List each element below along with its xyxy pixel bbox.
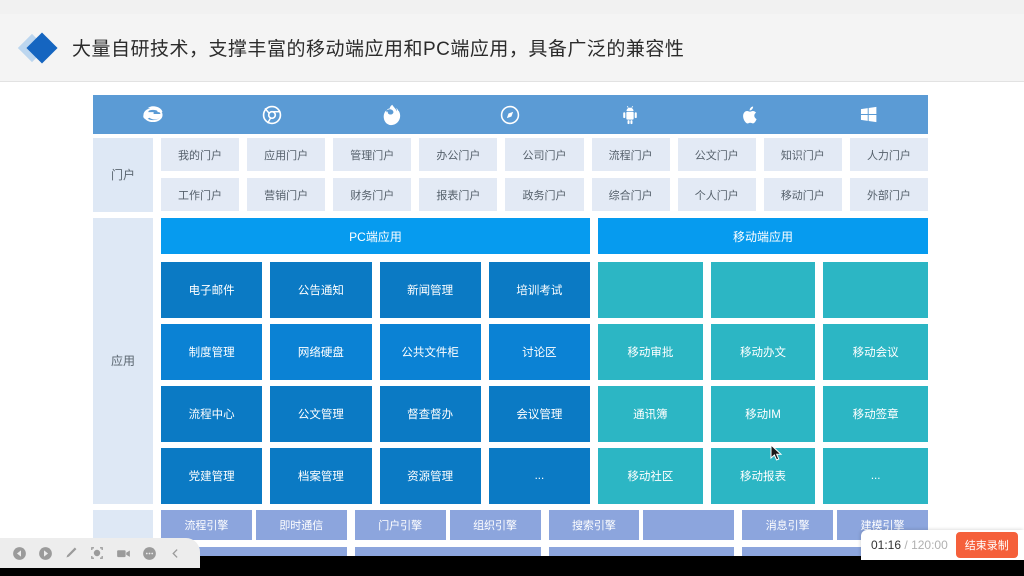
focus-icon[interactable] (84, 540, 110, 566)
mobile-app-item[interactable] (823, 262, 928, 318)
diamond-icon (22, 31, 64, 65)
portal-item[interactable]: 工作门户 (161, 178, 239, 211)
chevron-left-icon[interactable] (162, 540, 188, 566)
core-tech-group: 搜索引擎 (549, 510, 735, 540)
ellipsis-icon[interactable] (136, 540, 162, 566)
portal-band-body: 我的门户 应用门户 管理门户 办公门户 公司门户 流程门户 公文门户 知识门户 … (161, 138, 928, 212)
portal-grid: 我的门户 应用门户 管理门户 办公门户 公司门户 流程门户 公文门户 知识门户 … (161, 138, 928, 212)
pc-app-item[interactable]: 督查督办 (380, 386, 481, 442)
pc-app-item[interactable]: 公共文件柜 (380, 324, 481, 380)
core-tech-item[interactable]: 搜索引擎 (549, 510, 640, 540)
pc-app-item[interactable]: 公告通知 (270, 262, 371, 318)
screen-root: 大量自研技术，支撑丰富的移动端应用和PC端应用，具备广泛的兼容性 (0, 0, 1024, 576)
mobile-application-grid: 移动审批 移动办文 移动会议 通讯簿 移动IM 移动签章 移动社区 移动报表 .… (598, 262, 928, 504)
platform-compatibility-bar (93, 95, 928, 134)
pc-app-item-more[interactable]: ... (489, 448, 590, 504)
portal-item[interactable]: 流程门户 (592, 138, 670, 171)
portal-item[interactable]: 公司门户 (505, 138, 583, 171)
pc-applications-header: PC端应用 (161, 218, 590, 254)
mobile-app-item[interactable]: 移动审批 (598, 324, 703, 380)
pc-app-item[interactable]: 资源管理 (380, 448, 481, 504)
mobile-app-item[interactable]: 移动报表 (711, 448, 816, 504)
pc-app-item[interactable]: 新闻管理 (380, 262, 481, 318)
mobile-app-item[interactable]: 移动会议 (823, 324, 928, 380)
portal-item[interactable]: 管理门户 (333, 138, 411, 171)
window-top-strip (0, 0, 1024, 14)
pc-app-item[interactable]: 制度管理 (161, 324, 262, 380)
pc-app-item[interactable]: 讨论区 (489, 324, 590, 380)
recording-separator: / (904, 538, 907, 552)
presentation-toolbar (0, 538, 200, 568)
mobile-app-item-more[interactable]: ... (823, 448, 928, 504)
chrome-icon (212, 95, 331, 134)
arrow-left-circle-icon[interactable] (6, 540, 32, 566)
mouse-cursor (770, 444, 783, 467)
portal-band-label: 门户 (93, 138, 153, 212)
core-tech-row-top: 流程引擎 即时通信 门户引擎 组织引擎 搜索引擎 消息引擎 (161, 510, 928, 540)
mobile-applications-header: 移动端应用 (598, 218, 928, 254)
portal-item[interactable]: 综合门户 (592, 178, 670, 211)
pc-app-item[interactable]: 公文管理 (270, 386, 371, 442)
pc-app-item[interactable]: 电子邮件 (161, 262, 262, 318)
portal-item[interactable]: 外部门户 (850, 178, 928, 211)
portal-item[interactable]: 政务门户 (505, 178, 583, 211)
application-band-label: 应用 (93, 218, 153, 504)
page-title: 大量自研技术，支撑丰富的移动端应用和PC端应用，具备广泛的兼容性 (72, 34, 684, 61)
mobile-app-item[interactable]: 移动社区 (598, 448, 703, 504)
core-tech-group: 门户引擎 组织引擎 (355, 510, 541, 540)
application-band-body: PC端应用 移动端应用 电子邮件 公告通知 新闻管理 培训考试 制度管理 网络硬… (161, 218, 928, 504)
architecture-diagram: 门户 我的门户 应用门户 管理门户 办公门户 公司门户 流程门户 公文门户 知识… (93, 95, 928, 545)
application-band: 应用 PC端应用 移动端应用 电子邮件 公告通知 新闻管理 培训考试 制度管理 (93, 218, 928, 504)
pc-app-item[interactable]: 会议管理 (489, 386, 590, 442)
recording-widget: 01:16 / 120:00 结束录制 (861, 530, 1024, 560)
arrow-right-circle-icon[interactable] (32, 540, 58, 566)
recording-elapsed: 01:16 (871, 538, 901, 552)
portal-item[interactable]: 公文门户 (678, 138, 756, 171)
recording-timer: 01:16 / 120:00 (871, 538, 948, 552)
portal-item[interactable]: 人力门户 (850, 138, 928, 171)
pc-app-item[interactable]: 流程中心 (161, 386, 262, 442)
core-tech-group: 流程引擎 即时通信 (161, 510, 347, 540)
pc-app-item[interactable]: 网络硬盘 (270, 324, 371, 380)
mobile-app-item[interactable] (598, 262, 703, 318)
safari-icon (451, 95, 570, 134)
apple-icon (689, 95, 808, 134)
mobile-app-item[interactable]: 移动签章 (823, 386, 928, 442)
portal-item[interactable]: 我的门户 (161, 138, 239, 171)
firefox-icon (332, 95, 451, 134)
windows-icon (809, 95, 928, 134)
portal-item[interactable]: 个人门户 (678, 178, 756, 211)
slide-header: 大量自研技术，支撑丰富的移动端应用和PC端应用，具备广泛的兼容性 (0, 14, 1024, 82)
portal-item[interactable]: 报表门户 (419, 178, 497, 211)
pen-icon[interactable] (58, 540, 84, 566)
mobile-app-item[interactable]: 移动办文 (711, 324, 816, 380)
internet-explorer-icon (93, 95, 212, 134)
mobile-app-item[interactable]: 移动IM (711, 386, 816, 442)
mobile-app-item[interactable] (711, 262, 816, 318)
core-tech-item[interactable]: 流程引擎 (161, 510, 252, 540)
android-icon (570, 95, 689, 134)
portal-item[interactable]: 营销门户 (247, 178, 325, 211)
portal-item[interactable]: 财务门户 (333, 178, 411, 211)
camera-icon[interactable] (110, 540, 136, 566)
portal-item[interactable]: 应用门户 (247, 138, 325, 171)
portal-item[interactable]: 移动门户 (764, 178, 842, 211)
core-tech-item[interactable]: 即时通信 (256, 510, 347, 540)
portal-item[interactable]: 知识门户 (764, 138, 842, 171)
mobile-app-item[interactable]: 通讯簿 (598, 386, 703, 442)
core-tech-item[interactable]: 组织引擎 (450, 510, 541, 540)
application-grids: 电子邮件 公告通知 新闻管理 培训考试 制度管理 网络硬盘 公共文件柜 讨论区 … (161, 262, 928, 504)
portal-band: 门户 我的门户 应用门户 管理门户 办公门户 公司门户 流程门户 公文门户 知识… (93, 138, 928, 212)
pc-app-item[interactable]: 档案管理 (270, 448, 371, 504)
pc-app-item[interactable]: 培训考试 (489, 262, 590, 318)
pc-app-item[interactable]: 党建管理 (161, 448, 262, 504)
core-tech-item[interactable]: 门户引擎 (355, 510, 446, 540)
core-tech-item[interactable]: 消息引擎 (742, 510, 833, 540)
pc-application-grid: 电子邮件 公告通知 新闻管理 培训考试 制度管理 网络硬盘 公共文件柜 讨论区 … (161, 262, 590, 504)
stop-recording-button[interactable]: 结束录制 (956, 532, 1018, 558)
core-tech-item[interactable] (643, 510, 734, 540)
slide-canvas: 门户 我的门户 应用门户 管理门户 办公门户 公司门户 流程门户 公文门户 知识… (0, 83, 1024, 556)
portal-item[interactable]: 办公门户 (419, 138, 497, 171)
recording-total: 120:00 (911, 538, 948, 552)
application-headers: PC端应用 移动端应用 (161, 218, 928, 254)
